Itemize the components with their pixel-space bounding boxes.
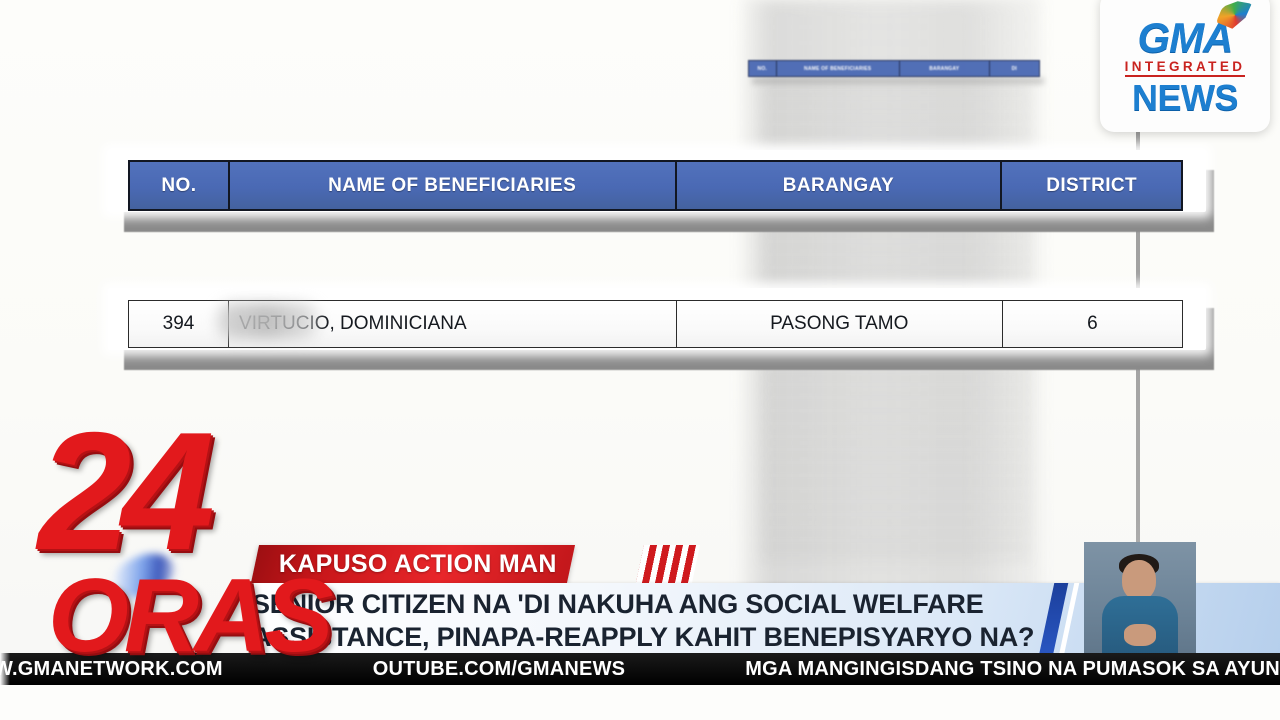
- ticker-left-fade: [0, 653, 10, 685]
- gma-network-logo: GMA INTEGRATED NEWS: [1100, 0, 1270, 132]
- gma-wordmark: GMA: [1138, 18, 1233, 58]
- news-ticker: W.GMANETWORK.COM OUTUBE.COM/GMANEWS MGA …: [0, 653, 1280, 685]
- ticker-url-middle: OUTUBE.COM/GMANEWS: [373, 658, 625, 681]
- ghost-header-barangay: BARANGAY: [900, 61, 990, 76]
- gma-news-text: NEWS: [1132, 80, 1238, 116]
- cell-district: 6: [1003, 301, 1182, 347]
- ghost-table-shadow: [752, 78, 1044, 84]
- ticker-url-left: W.GMANETWORK.COM: [0, 658, 223, 681]
- beneficiaries-table-header: NO. NAME OF BENEFICIARIES BARANGAY DISTR…: [128, 160, 1183, 211]
- ticker-headline: MGA MANGINGISDANG TSINO NA PUMASOK SA AY…: [745, 658, 1280, 681]
- column-header-barangay: BARANGAY: [677, 162, 1003, 209]
- ghost-header-district: DI: [990, 61, 1039, 76]
- cell-barangay: PASONG TAMO: [677, 301, 1003, 347]
- privacy-blur-patch: [218, 303, 318, 339]
- background-table-header: NO. NAME OF BENEFICIARIES BARANGAY DI: [748, 60, 1040, 77]
- bottom-white-strip: [0, 685, 1280, 720]
- gma-integrated-text: INTEGRATED: [1125, 59, 1246, 77]
- column-header-no: NO.: [130, 162, 230, 209]
- column-header-district: DISTRICT: [1002, 162, 1181, 209]
- column-header-name: NAME OF BENEFICIARIES: [230, 162, 677, 209]
- cell-no: 394: [129, 301, 229, 347]
- ghost-header-name: NAME OF BENEFICIARIES: [777, 61, 900, 76]
- ghost-header-no: NO.: [749, 61, 777, 76]
